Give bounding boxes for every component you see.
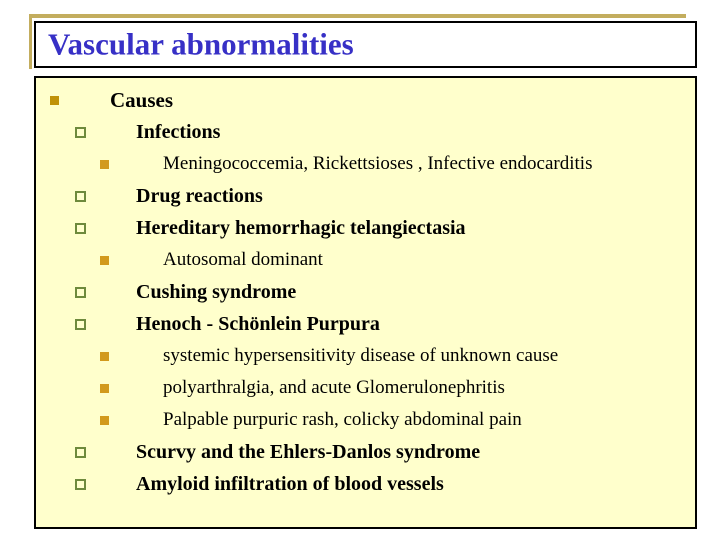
bullet-item: Henoch - Schönlein Purpura <box>36 308 695 340</box>
hollow-square-bullet-icon <box>75 223 86 234</box>
presentation-slide: Vascular abnormalities CausesInfectionsM… <box>0 0 728 546</box>
filled-square-bullet-icon <box>100 384 109 393</box>
bullet-item-label: Henoch - Schönlein Purpura <box>136 313 380 335</box>
bullet-item: systemic hypersensitivity disease of unk… <box>36 340 695 372</box>
filled-square-bullet-icon <box>100 352 109 361</box>
decorative-left-rule <box>29 14 32 69</box>
bullet-item-label: Causes <box>110 88 173 112</box>
decorative-top-rule <box>29 14 686 18</box>
hollow-square-bullet-icon <box>75 287 86 298</box>
bullet-item: Cushing syndrome <box>36 276 695 308</box>
filled-square-bullet-icon <box>100 256 109 265</box>
filled-square-bullet-icon <box>50 96 59 105</box>
bullet-item: Palpable purpuric rash, colicky abdomina… <box>36 404 695 436</box>
bullet-item-label: Autosomal dominant <box>163 249 323 270</box>
slide-content-box: CausesInfectionsMeningococcemia, Rickett… <box>34 76 697 529</box>
hollow-square-bullet-icon <box>75 479 86 490</box>
bullet-item: polyarthralgia, and acute Glomerulonephr… <box>36 372 695 404</box>
bullet-item-label: Hereditary hemorrhagic telangiectasia <box>136 217 466 239</box>
bullet-list: CausesInfectionsMeningococcemia, Rickett… <box>36 84 695 500</box>
filled-square-bullet-icon <box>100 160 109 169</box>
bullet-item-label: Palpable purpuric rash, colicky abdomina… <box>163 409 522 430</box>
hollow-square-bullet-icon <box>75 447 86 458</box>
bullet-item: Causes <box>36 84 695 116</box>
hollow-square-bullet-icon <box>75 319 86 330</box>
slide-title: Vascular abnormalities <box>48 28 354 61</box>
bullet-item: Infections <box>36 116 695 148</box>
bullet-item-label: Infections <box>136 121 220 143</box>
bullet-item: Scurvy and the Ehlers-Danlos syndrome <box>36 436 695 468</box>
hollow-square-bullet-icon <box>75 191 86 202</box>
bullet-item-label: Drug reactions <box>136 185 263 207</box>
bullet-item-label: Cushing syndrome <box>136 281 296 303</box>
bullet-item-label: Scurvy and the Ehlers-Danlos syndrome <box>136 441 480 463</box>
bullet-item: Meningococcemia, Rickettsioses , Infecti… <box>36 148 695 180</box>
hollow-square-bullet-icon <box>75 127 86 138</box>
bullet-item: Drug reactions <box>36 180 695 212</box>
bullet-item-label: Meningococcemia, Rickettsioses , Infecti… <box>163 153 592 174</box>
bullet-item-label: systemic hypersensitivity disease of unk… <box>163 345 558 366</box>
slide-title-box: Vascular abnormalities <box>34 21 697 68</box>
filled-square-bullet-icon <box>100 416 109 425</box>
bullet-item-label: polyarthralgia, and acute Glomerulonephr… <box>163 377 505 398</box>
bullet-item: Autosomal dominant <box>36 244 695 276</box>
bullet-item: Hereditary hemorrhagic telangiectasia <box>36 212 695 244</box>
bullet-item: Amyloid infiltration of blood vessels <box>36 468 695 500</box>
bullet-item-label: Amyloid infiltration of blood vessels <box>136 473 444 495</box>
